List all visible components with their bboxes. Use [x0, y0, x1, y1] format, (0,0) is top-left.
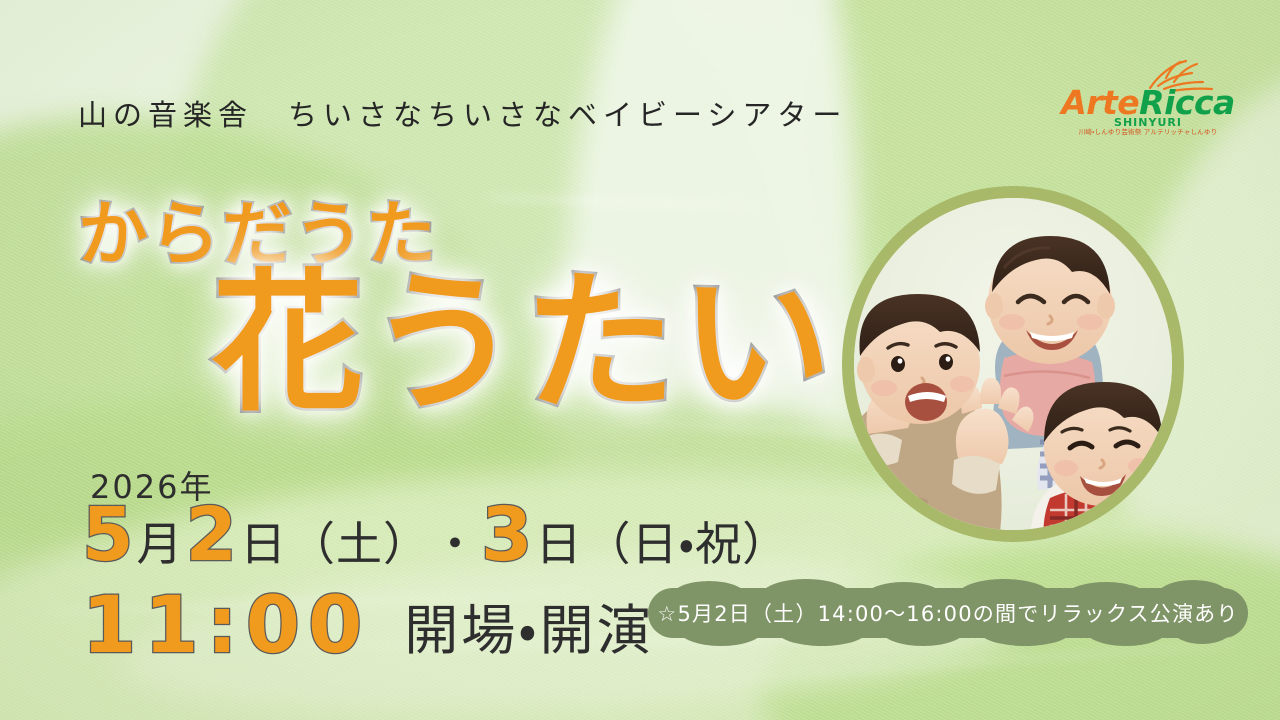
day2-unit: 日 — [536, 508, 583, 574]
day1-unit: 日 — [240, 508, 287, 574]
time-value: 11:00 — [82, 587, 370, 665]
day2-weekday: （日・祝） — [585, 508, 790, 574]
date-line: 5 月 2 日 （土） ・ 3 日 （日・祝） — [82, 502, 789, 574]
logo-japanese-caption: 川崎・しんゆり芸術祭 アルテリッチャしんゆり — [1054, 129, 1242, 136]
month-number: 5 — [82, 502, 135, 569]
artericca-logo: ArteRicca SHINYURI 川崎・しんゆり芸術祭 アルテリッチャしんゆ… — [1054, 58, 1242, 154]
day2-number: 3 — [481, 502, 534, 569]
logo-wordmark: ArteRicca — [1054, 86, 1242, 119]
title-large: 花うたい — [212, 268, 836, 420]
day1-number: 2 — [186, 502, 239, 569]
poster-root: 山の音楽舎 ちいさなちいさなベイビーシアター ArteRicca SHINYUR… — [0, 0, 1280, 720]
poster-content: 山の音楽舎 ちいさなちいさなベイビーシアター ArteRicca SHINYUR… — [0, 0, 1280, 720]
photo-circle — [842, 186, 1184, 542]
time-line: 11:00 開場・開演 — [82, 586, 654, 665]
relax-performance-banner: ☆5月2日（土）14:00〜16:00の間でリラックス公演あり — [648, 588, 1248, 638]
time-label: 開場・開演 — [404, 586, 653, 665]
date-separator: ・ — [432, 508, 479, 574]
day1-weekday: （土） — [289, 508, 430, 574]
relax-performance-text: ☆5月2日（土）14:00〜16:00の間でリラックス公演あり — [648, 588, 1248, 638]
photo-image — [854, 198, 1172, 530]
series-subtitle: 山の音楽舎 ちいさなちいさなベイビーシアター — [78, 92, 847, 134]
babies-photo-illustration — [854, 198, 1172, 530]
logo-letter-a: A — [1061, 83, 1086, 122]
month-unit: 月 — [137, 508, 184, 574]
